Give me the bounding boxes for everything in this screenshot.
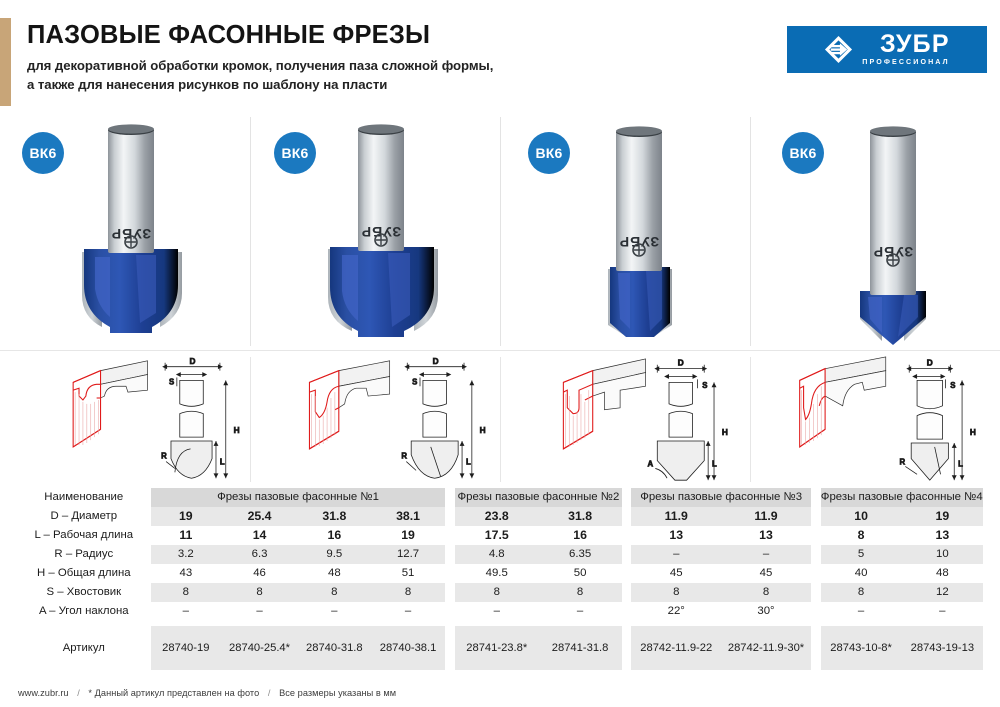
technical-diagram-2: D S R H <box>250 351 500 488</box>
svg-text:R: R <box>161 452 167 461</box>
cell: 30° <box>721 602 811 621</box>
diagram-svg-1: D S R H <box>0 353 250 488</box>
cell: 8 <box>538 583 621 602</box>
technical-diagram-strip: D S R H <box>0 350 1000 488</box>
cell: 45 <box>631 564 721 583</box>
gap <box>622 583 632 602</box>
cell: 9.5 <box>298 545 371 564</box>
cell: 14 <box>221 526 298 545</box>
specification-table: Наименование Фрезы пазовые фасонные №1 Ф… <box>17 488 983 670</box>
cell: 12.7 <box>371 545 446 564</box>
gap <box>811 602 821 621</box>
accent-bar <box>0 18 11 106</box>
row-label-shank: S – Хвостовик <box>17 583 151 602</box>
cell: 8 <box>721 583 811 602</box>
row-label-diameter: D – Диаметр <box>17 507 151 526</box>
cell: 31.8 <box>538 507 621 526</box>
gap <box>445 507 455 526</box>
cell: 8 <box>298 583 371 602</box>
gap <box>811 507 821 526</box>
cell: 51 <box>371 564 446 583</box>
cell: 8 <box>151 583 222 602</box>
cell: – <box>721 545 811 564</box>
gap <box>445 602 455 621</box>
cell: 16 <box>538 526 621 545</box>
cell: 10 <box>902 545 983 564</box>
table-row-total-length: H – Общая длина 43 46 48 51 49.5 50 45 4… <box>17 564 983 583</box>
zubr-arrow-diamond-icon <box>824 35 853 64</box>
diagram-svg-3: D S A H <box>500 353 750 488</box>
cell: – <box>298 602 371 621</box>
cell: 45 <box>721 564 811 583</box>
table-row-working-length: L – Рабочая длина 11 14 16 19 17.5 16 13… <box>17 526 983 545</box>
cell: 13 <box>721 526 811 545</box>
cell: 48 <box>902 564 983 583</box>
group-header-2: Фрезы пазовые фасонные №2 <box>455 488 622 507</box>
article-cell: 28740-38.1 <box>371 626 446 670</box>
brand-name: ЗУБР <box>880 32 950 56</box>
cell: 46 <box>221 564 298 583</box>
cell: – <box>631 545 721 564</box>
article-cell: 28740-31.8 <box>298 626 371 670</box>
cell: 16 <box>298 526 371 545</box>
cell: 40 <box>821 564 902 583</box>
cell: 8 <box>821 583 902 602</box>
table-corner-label: Наименование <box>17 488 151 507</box>
cell: 5 <box>821 545 902 564</box>
technical-diagram-4: D S R H <box>750 351 1000 488</box>
row-label-article: Артикул <box>17 626 151 670</box>
gap <box>445 564 455 583</box>
svg-text:H: H <box>970 427 976 437</box>
cell: 11.9 <box>721 507 811 526</box>
svg-text:R: R <box>401 452 407 461</box>
page-header: ПАЗОВЫЕ ФАСОННЫЕ ФРЕЗЫ для декоративной … <box>0 0 1000 112</box>
cell: 31.8 <box>298 507 371 526</box>
gap <box>445 583 455 602</box>
cell: 8 <box>221 583 298 602</box>
gap <box>622 507 632 526</box>
cell: 17.5 <box>455 526 538 545</box>
router-bit-illustration-3: ЗУБР <box>554 119 714 349</box>
cell: – <box>371 602 446 621</box>
gap <box>445 526 455 545</box>
article-cell: 28743-19-13 <box>902 626 983 670</box>
article-cell: 28742-11.9-30* <box>721 626 811 670</box>
cell: 8 <box>455 583 538 602</box>
specification-table-zone: Наименование Фрезы пазовые фасонные №1 Ф… <box>17 488 983 670</box>
group-gap-2 <box>622 488 632 507</box>
cell: 6.35 <box>538 545 621 564</box>
svg-text:D: D <box>927 358 933 368</box>
svg-text:H: H <box>234 425 240 435</box>
svg-text:S: S <box>702 381 707 390</box>
cell: 43 <box>151 564 222 583</box>
product-photo-3: ВК6 ЗУБР <box>500 113 750 350</box>
cell: – <box>538 602 621 621</box>
gap <box>622 602 632 621</box>
brand-logo: ЗУБР ПРОФЕССИОНАЛ <box>787 26 987 73</box>
product-photo-strip: ВК6 <box>0 112 1000 350</box>
gap <box>811 564 821 583</box>
svg-text:S: S <box>412 377 417 386</box>
cell: 23.8 <box>455 507 538 526</box>
cell: 22° <box>631 602 721 621</box>
svg-text:D: D <box>678 358 684 368</box>
table-row-radius: R – Радиус 3.2 6.3 9.5 12.7 4.8 6.35 – –… <box>17 545 983 564</box>
subtitle-line-2: а также для нанесения рисунков по шаблон… <box>27 75 727 94</box>
gap <box>622 545 632 564</box>
footer-separator-1: / <box>71 688 86 698</box>
gap <box>811 545 821 564</box>
cell: 6.3 <box>221 545 298 564</box>
cell: 19 <box>902 507 983 526</box>
group-header-3: Фрезы пазовые фасонные №3 <box>631 488 811 507</box>
table-group-header-row: Наименование Фрезы пазовые фасонные №1 Ф… <box>17 488 983 507</box>
gap <box>811 626 821 670</box>
svg-text:L: L <box>466 458 471 467</box>
svg-text:L: L <box>220 458 225 467</box>
diagram-svg-4: D S R H <box>750 353 1000 488</box>
cell: – <box>902 602 983 621</box>
svg-text:R: R <box>899 458 905 467</box>
group-gap-1 <box>445 488 455 507</box>
cell: 50 <box>538 564 621 583</box>
cell: 19 <box>151 507 222 526</box>
svg-text:A: A <box>648 459 654 468</box>
title-block: ПАЗОВЫЕ ФАСОННЫЕ ФРЕЗЫ для декоративной … <box>27 22 727 94</box>
product-photo-1: ВК6 <box>0 113 250 350</box>
row-label-total-length: H – Общая длина <box>17 564 151 583</box>
svg-text:D: D <box>189 356 195 366</box>
table-row-angle: A – Угол наклона – – – – – – 22° 30° – – <box>17 602 983 621</box>
svg-text:S: S <box>950 381 955 390</box>
group-gap-3 <box>811 488 821 507</box>
diagram-svg-2: D S R H <box>250 353 500 488</box>
footer-note-photo: * Данный артикул представлен на фото <box>88 688 259 698</box>
product-photo-4: ВК6 ЗУБР <box>750 113 1000 350</box>
article-cell: 28740-25.4* <box>221 626 298 670</box>
group-header-4: Фрезы пазовые фасонные №4 <box>821 488 984 507</box>
gap <box>622 526 632 545</box>
article-cell: 28743-10-8* <box>821 626 902 670</box>
router-bit-illustration-4: ЗУБР <box>808 119 958 349</box>
cell: – <box>151 602 222 621</box>
table-row-article: Артикул 28740-19 28740-25.4* 28740-31.8 … <box>17 626 983 670</box>
page-title: ПАЗОВЫЕ ФАСОННЫЕ ФРЕЗЫ <box>27 22 727 50</box>
article-cell: 28741-31.8 <box>538 626 621 670</box>
svg-text:H: H <box>480 425 486 435</box>
cell: 49.5 <box>455 564 538 583</box>
cell: 3.2 <box>151 545 222 564</box>
table-row-shank: S – Хвостовик 8 8 8 8 8 8 8 8 8 12 <box>17 583 983 602</box>
cell: 38.1 <box>371 507 446 526</box>
subtitle-line-1: для декоративной обработки кромок, получ… <box>27 56 727 75</box>
technical-diagram-1: D S R H <box>0 351 250 488</box>
page-footer: www.zubr.ru / * Данный артикул представл… <box>18 688 396 698</box>
article-cell: 28740-19 <box>151 626 222 670</box>
svg-text:H: H <box>722 427 728 437</box>
article-cell: 28741-23.8* <box>455 626 538 670</box>
row-label-angle: A – Угол наклона <box>17 602 151 621</box>
router-bit-illustration-1: ЗУБР <box>40 117 215 347</box>
gap <box>622 626 632 670</box>
product-datasheet: ПАЗОВЫЕ ФАСОННЫЕ ФРЕЗЫ для декоративной … <box>0 0 1000 707</box>
gap <box>445 545 455 564</box>
article-cell: 28742-11.9-22 <box>631 626 721 670</box>
cell: 19 <box>371 526 446 545</box>
brand-tagline: ПРОФЕССИОНАЛ <box>862 59 949 66</box>
cell: 25.4 <box>221 507 298 526</box>
footer-note-units: Все размеры указаны в мм <box>279 688 396 698</box>
cell: 48 <box>298 564 371 583</box>
svg-text:S: S <box>169 377 174 386</box>
cell: – <box>221 602 298 621</box>
cell: 8 <box>371 583 446 602</box>
gap <box>811 583 821 602</box>
svg-text:L: L <box>712 459 717 468</box>
footer-website[interactable]: www.zubr.ru <box>18 688 69 698</box>
gap <box>811 526 821 545</box>
cell: 10 <box>821 507 902 526</box>
table-body: D – Диаметр 19 25.4 31.8 38.1 23.8 31.8 … <box>17 507 983 670</box>
footer-separator-2: / <box>262 688 277 698</box>
cell: 11.9 <box>631 507 721 526</box>
svg-text:D: D <box>433 356 439 366</box>
router-bit-illustration-2: ЗУБР <box>292 117 467 347</box>
cell: 12 <box>902 583 983 602</box>
cell: – <box>455 602 538 621</box>
table-row-diameter: D – Диаметр 19 25.4 31.8 38.1 23.8 31.8 … <box>17 507 983 526</box>
cell: – <box>821 602 902 621</box>
product-photo-2: ВК6 ЗУБР <box>250 113 500 350</box>
cell: 4.8 <box>455 545 538 564</box>
row-label-radius: R – Радиус <box>17 545 151 564</box>
cell: 8 <box>631 583 721 602</box>
row-label-working-length: L – Рабочая длина <box>17 526 151 545</box>
cell: 8 <box>821 526 902 545</box>
gap <box>445 626 455 670</box>
group-header-1: Фрезы пазовые фасонные №1 <box>151 488 446 507</box>
cell: 13 <box>631 526 721 545</box>
cell: 11 <box>151 526 222 545</box>
technical-diagram-3: D S A H <box>500 351 750 488</box>
svg-text:L: L <box>958 459 963 468</box>
cell: 13 <box>902 526 983 545</box>
gap <box>622 564 632 583</box>
